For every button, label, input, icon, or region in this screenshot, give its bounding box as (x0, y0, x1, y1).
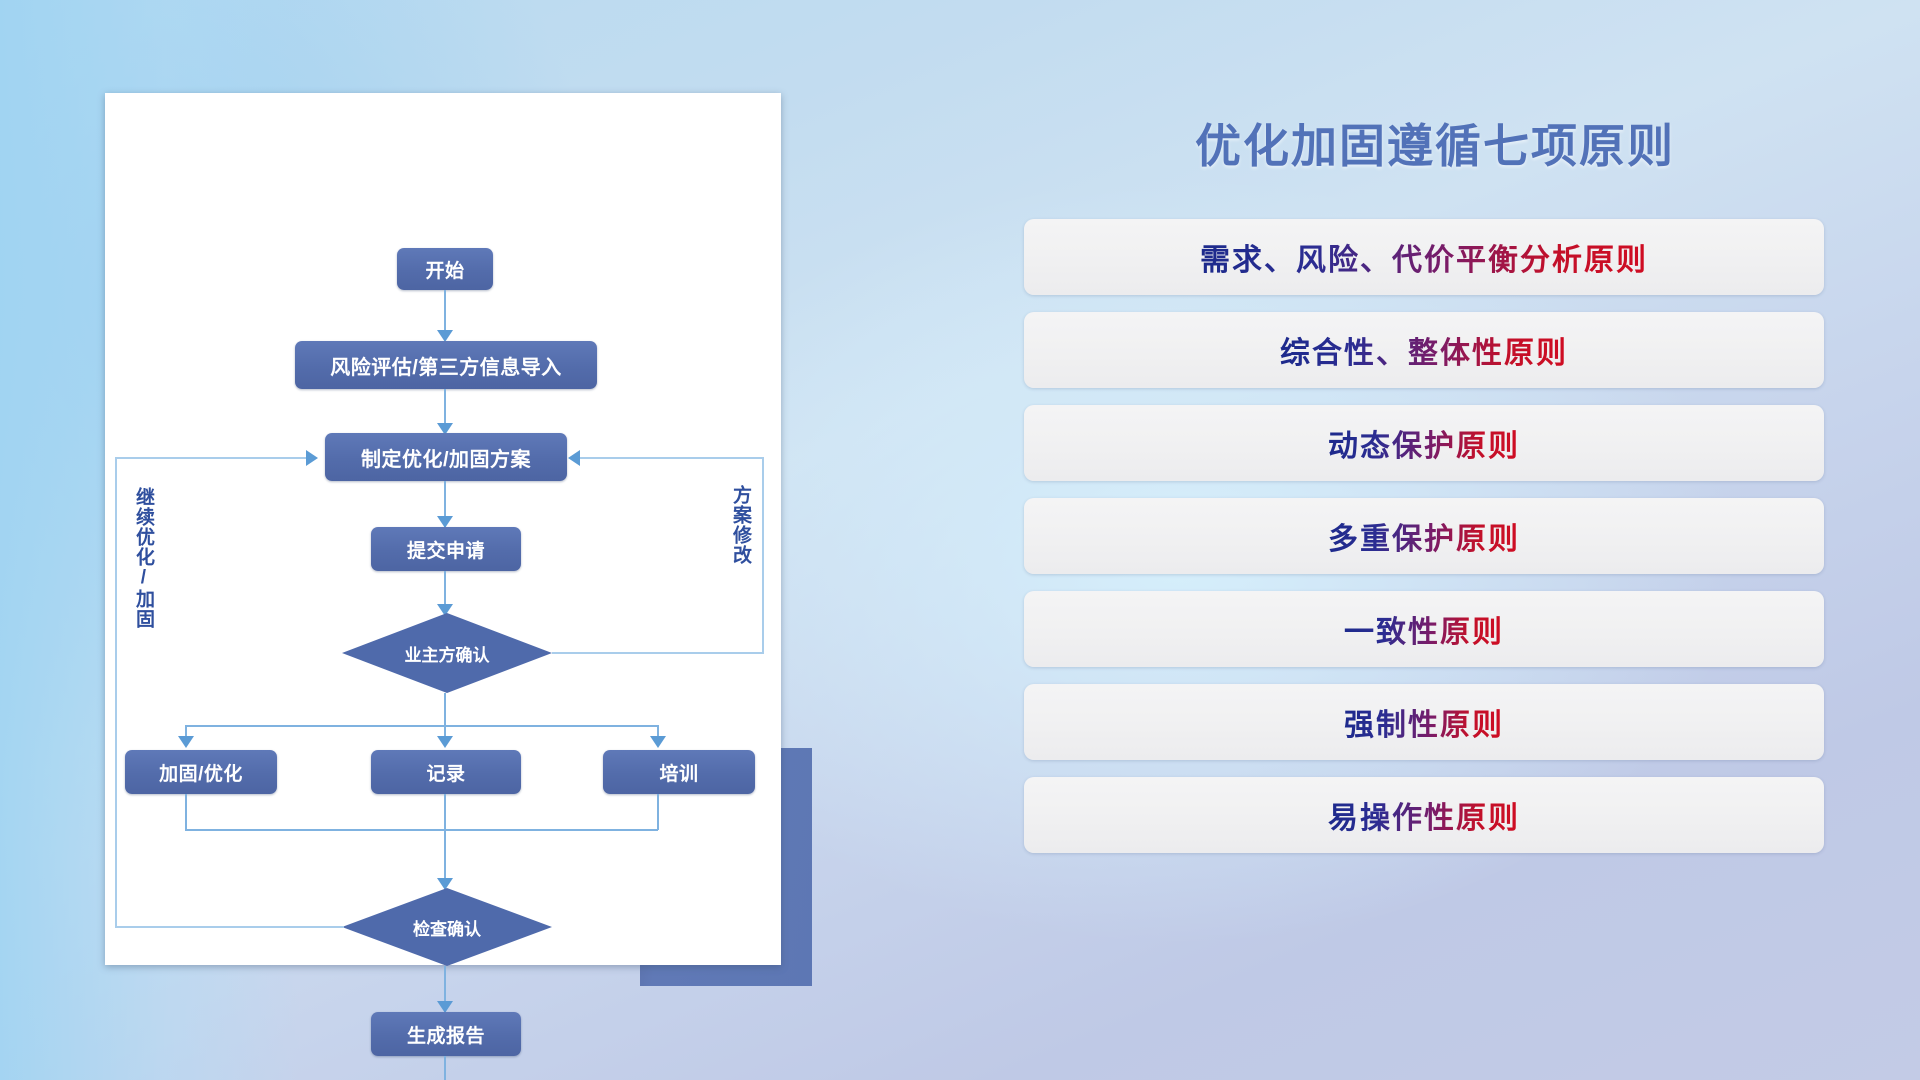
flow-node-record[interactable]: 记录 (371, 750, 521, 794)
flow-node-owner-confirm-label: 业主方确认 (405, 641, 490, 666)
principle-card-5-label: 一致性原则 (1344, 607, 1504, 651)
connector-right-riser (762, 457, 764, 653)
principles-panel: 优化加固遵循七项原则 需求、风险、代价平衡分析原则 综合性、整体性原则 动态保护… (1020, 84, 1850, 1014)
arrow-right-loop-to-plan (568, 450, 580, 466)
arrow-merge-to-check (437, 878, 453, 890)
flow-node-submit-label: 提交申请 (407, 536, 485, 563)
flowchart-canvas: 开始 风险评估/第三方信息导入 制定优化/加固方案 提交申请 (105, 93, 781, 965)
flow-node-report[interactable]: 生成报告 (371, 1012, 521, 1056)
connector-owner-down (444, 693, 446, 726)
flow-node-training[interactable]: 培训 (603, 750, 755, 794)
connector-right-to-plan (580, 457, 764, 459)
flow-node-risk-assessment[interactable]: 风险评估/第三方信息导入 (295, 341, 597, 389)
connector-left-to-plan (115, 457, 308, 459)
principle-card-2-label: 综合性、整体性原则 (1280, 328, 1568, 372)
principle-card-4[interactable]: 多重保护原则 (1024, 498, 1824, 574)
principle-card-6-label: 强制性原则 (1344, 700, 1504, 744)
connector-merge-bus (185, 829, 658, 831)
principles-card-list: 需求、风险、代价平衡分析原则 综合性、整体性原则 动态保护原则 多重保护原则 一… (1024, 219, 1824, 870)
flow-node-start[interactable]: 开始 (397, 248, 493, 290)
flow-node-check-confirm-label: 检查确认 (413, 915, 481, 940)
flow-node-start-label: 开始 (425, 256, 464, 283)
connector-left-riser (115, 457, 117, 928)
connector-report-to-end (444, 1056, 446, 1080)
principle-card-6[interactable]: 强制性原则 (1024, 684, 1824, 760)
principle-card-1-label: 需求、风险、代价平衡分析原则 (1200, 235, 1648, 279)
principle-card-2[interactable]: 综合性、整体性原则 (1024, 312, 1824, 388)
arrow-branch-left (178, 736, 194, 748)
flow-node-reinforce-label: 加固/优化 (159, 759, 243, 786)
arrow-branch-center (437, 736, 453, 748)
flow-node-plan[interactable]: 制定优化/加固方案 (325, 433, 567, 481)
principle-card-3[interactable]: 动态保护原则 (1024, 405, 1824, 481)
connector-merge-to-check (444, 794, 446, 889)
slide-root: 开始 风险评估/第三方信息导入 制定优化/加固方案 提交申请 (0, 0, 1920, 1080)
principles-title: 优化加固遵循七项原则 (1020, 110, 1850, 176)
connector-owner-right (552, 652, 764, 654)
flow-node-training-label: 培训 (659, 759, 698, 786)
edge-label-plan-revision: 方案修改 (730, 485, 750, 565)
principle-card-4-label: 多重保护原则 (1328, 514, 1520, 558)
connector-split-bus (185, 725, 658, 727)
flow-node-risk-assessment-label: 风险评估/第三方信息导入 (330, 351, 562, 380)
principle-card-7-label: 易操作性原则 (1328, 793, 1520, 837)
flow-node-report-label: 生成报告 (407, 1021, 485, 1048)
flowchart-panel: 开始 风险评估/第三方信息导入 制定优化/加固方案 提交申请 (105, 93, 781, 965)
connector-training-down (657, 794, 659, 830)
principle-card-3-label: 动态保护原则 (1328, 421, 1520, 465)
principle-card-7[interactable]: 易操作性原则 (1024, 777, 1824, 853)
arrow-branch-right (650, 736, 666, 748)
principle-card-5[interactable]: 一致性原则 (1024, 591, 1824, 667)
connector-reinforce-down (185, 794, 187, 830)
flow-node-owner-confirm[interactable]: 业主方确认 (342, 613, 552, 693)
connector-check-left (115, 926, 344, 928)
principle-card-1[interactable]: 需求、风险、代价平衡分析原则 (1024, 219, 1824, 295)
flow-node-record-label: 记录 (426, 759, 465, 786)
flow-node-submit[interactable]: 提交申请 (371, 527, 521, 571)
flow-node-plan-label: 制定优化/加固方案 (361, 443, 531, 472)
edge-label-continue-optimize: 继续优化/加固 (133, 487, 153, 629)
flow-node-check-confirm[interactable]: 检查确认 (342, 888, 552, 966)
flow-node-reinforce[interactable]: 加固/优化 (125, 750, 277, 794)
arrow-left-loop-to-plan (306, 450, 318, 466)
